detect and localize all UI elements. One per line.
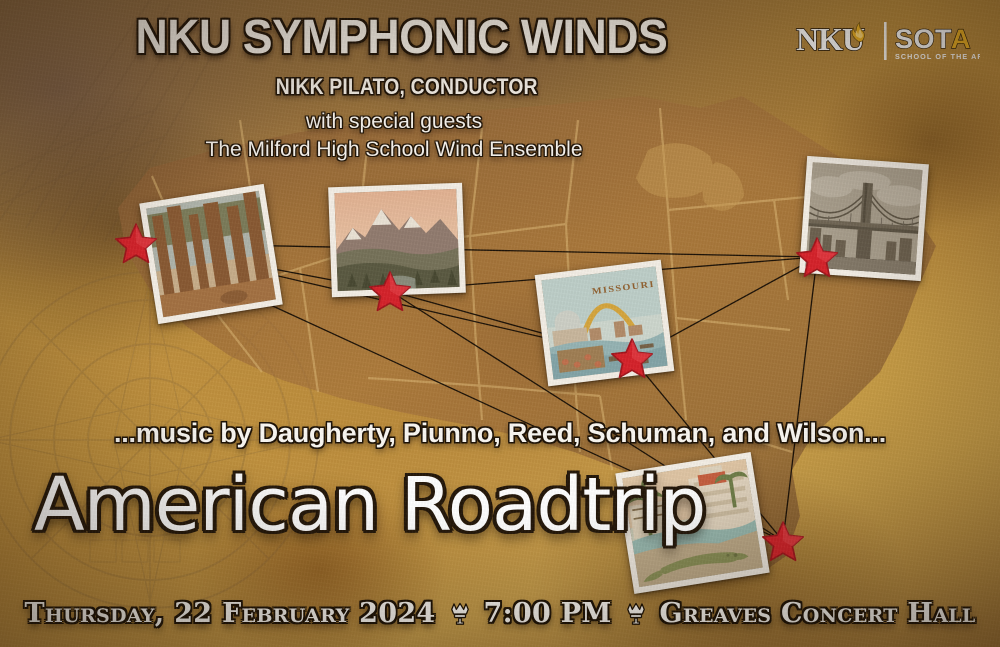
vignette-overlay — [0, 0, 1000, 647]
concert-poster: MISSOURI — [0, 0, 1000, 647]
